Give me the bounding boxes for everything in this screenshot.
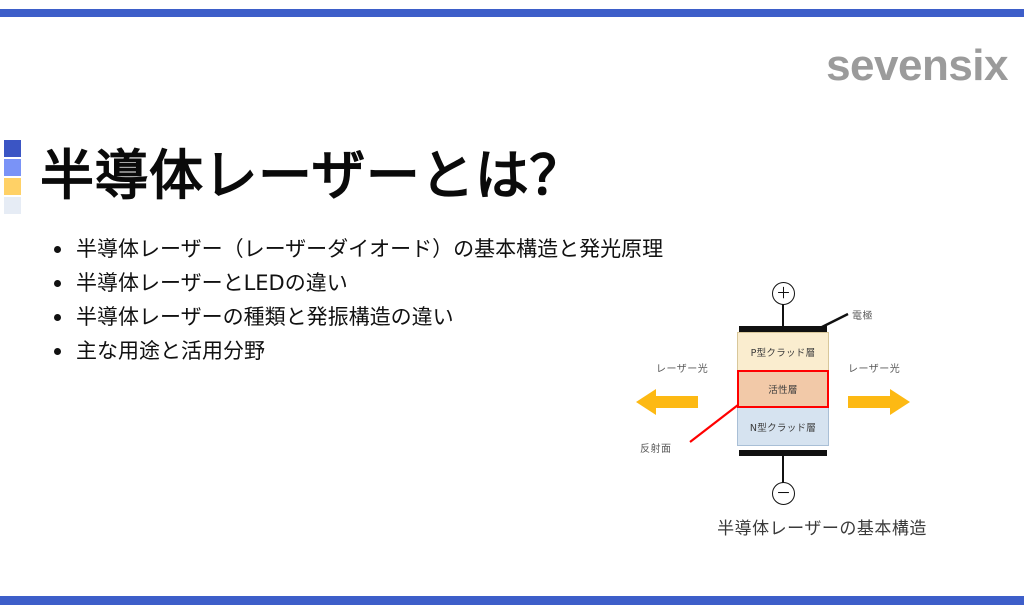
swatch-yellow <box>4 178 21 195</box>
sevensix-logo: sevensix <box>826 44 1008 88</box>
laser-light-label-right: レーザー光 <box>848 360 900 375</box>
laser-light-label-left: レーザー光 <box>656 360 708 375</box>
laser-structure-figure: ＋ － P型クラッド層 活性層 N型クラッド層 電極 レーザー光 レーザー光 反… <box>620 292 1024 562</box>
list-item: 半導体レーザーとLEDの違い <box>76 266 663 300</box>
title-swatches <box>4 140 28 214</box>
electrode-label: 電極 <box>852 307 873 322</box>
list-item: 半導体レーザー（レーザーダイオード）の基本構造と発光原理 <box>76 232 663 266</box>
list-item: 主な用途と活用分野 <box>76 334 663 368</box>
bottom-rule <box>0 596 1024 605</box>
swatch-dark-blue <box>4 140 21 157</box>
page-title: 半導体レーザーとは？ <box>40 148 584 205</box>
list-item: 半導体レーザーの種類と発振構造の違い <box>76 300 663 334</box>
top-rule <box>0 9 1024 17</box>
swatch-pale-blue <box>4 197 21 214</box>
reflective-surface-label: 反射面 <box>640 440 672 455</box>
slide: sevensix 半導体レーザーとは？ 半導体レーザー（レーザーダイオード）の基… <box>0 0 1024 605</box>
title-row: 半導体レーザーとは？ <box>0 112 584 241</box>
figure-caption: 半導体レーザーの基本構造 <box>620 514 1024 539</box>
agenda-list: 半導体レーザー（レーザーダイオード）の基本構造と発光原理 半導体レーザーとLED… <box>46 232 663 368</box>
swatch-light-blue <box>4 159 21 176</box>
